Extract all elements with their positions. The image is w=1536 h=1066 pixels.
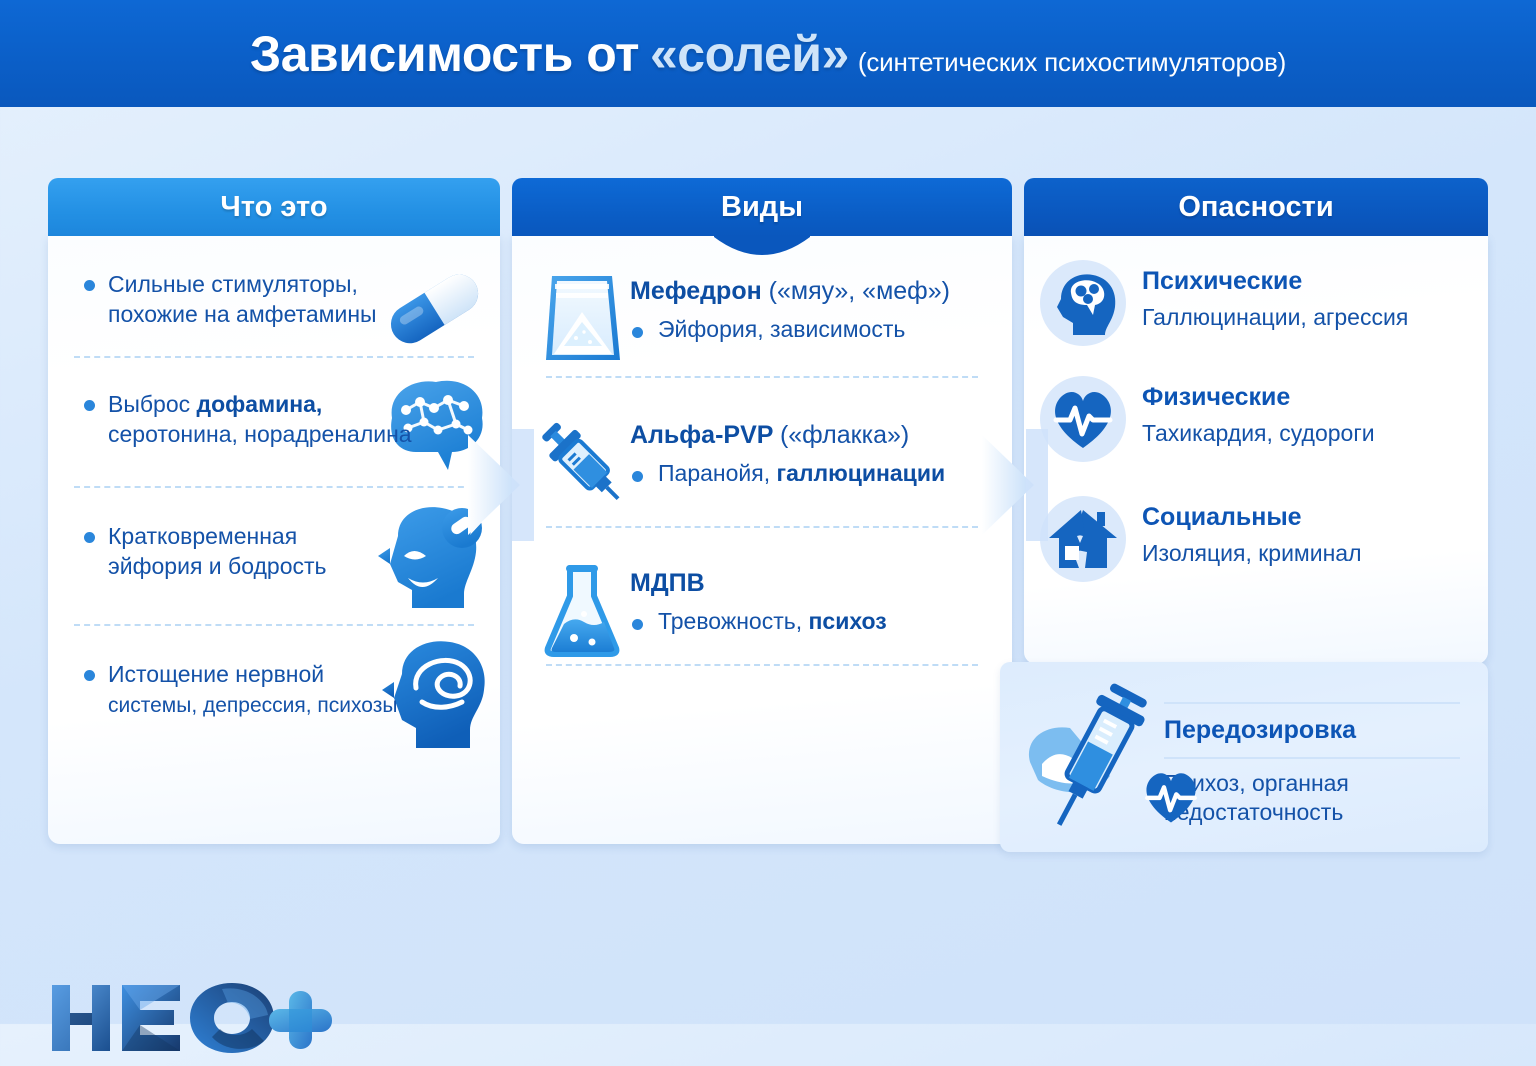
overdose-panel[interactable]: Передозировка Психоз, органная недостато… <box>1000 662 1488 852</box>
bullet-icon <box>84 280 95 291</box>
list-item-lead: Выброс <box>108 391 197 417</box>
list-item[interactable]: Мефедрон («мяу», «меф») Эйфория, зависим… <box>512 236 1012 376</box>
list-item-lead: Сильные стимуляторы, <box>108 271 358 297</box>
flask-icon <box>534 562 630 660</box>
syringe-icon <box>534 414 630 514</box>
powder-bag-icon <box>534 270 630 366</box>
list-item-rest: серотонина, норадреналина <box>108 421 412 447</box>
page-title: Зависимость от <box>250 25 639 83</box>
list-item[interactable]: Выброс дофамина, серотонина, норадренали… <box>48 358 500 486</box>
bullet-icon <box>84 532 95 543</box>
column-what-header: Что это <box>48 178 500 236</box>
list-item-rest: системы, депрессия, психозы <box>108 694 397 717</box>
kind-effect: Эйфория, зависимость <box>658 316 905 342</box>
neo-plus-logo[interactable] <box>48 979 338 1061</box>
separator <box>1164 757 1460 759</box>
page-banner: Зависимость от «солей» (синтетических пс… <box>0 0 1536 107</box>
kind-effect-bold: галлюцинации <box>776 460 945 486</box>
list-item[interactable]: Истощение нервной системы, депрессия, пс… <box>48 626 500 776</box>
kind-effect-bold: психоз <box>809 608 887 634</box>
danger-sub: Тахикардия, судороги <box>1142 419 1375 448</box>
bullet-icon <box>632 471 643 482</box>
kind-title: Альфа-PVP <box>630 421 773 449</box>
bullet-icon <box>632 327 643 338</box>
list-item[interactable]: Сильные стимуляторы, похожие на амфетами… <box>48 236 500 356</box>
list-item[interactable]: Альфа-PVP («флакка») Паранойя, галлюцина… <box>512 378 1012 526</box>
list-item-lead: Кратковременная <box>108 523 297 549</box>
danger-title: Физические <box>1142 382 1375 412</box>
kind-alias: («мяу», «меф») <box>769 277 950 305</box>
heart-pulse-small-icon <box>1140 768 1202 826</box>
list-item-rest: похожие на амфетамины <box>108 301 377 327</box>
list-item-lead: Истощение нервной <box>108 661 324 687</box>
bullet-icon <box>84 400 95 411</box>
kind-title: МДПВ <box>630 569 705 597</box>
head-thought-brain-icon <box>1040 260 1126 346</box>
flow-arrow-2-icon <box>982 429 1048 541</box>
list-item[interactable]: МДПВ Тревожность, психоз <box>512 528 1012 664</box>
column-what-is-it: Что это Сильные стимуляторы, похожие на … <box>48 178 500 844</box>
bullet-icon <box>632 619 643 630</box>
overdose-title: Передозировка <box>1164 716 1460 745</box>
bullet-icon <box>84 670 95 681</box>
separator <box>546 664 978 666</box>
danger-sub: Изоляция, криминал <box>1142 539 1362 568</box>
list-item[interactable]: Психические Галлюцинации, агрессия <box>1024 236 1488 364</box>
kind-alias: («флакка») <box>780 421 909 449</box>
separator <box>1164 702 1460 704</box>
danger-sub: Галлюцинации, агрессия <box>1142 303 1408 332</box>
column-dangers-header: Опасности <box>1024 178 1488 236</box>
kind-effect: Паранойя, <box>658 460 776 486</box>
list-item-bold: дофамина, <box>197 391 323 417</box>
page-title-quoted: «солей» <box>650 25 849 83</box>
infographic-board: Что это Сильные стимуляторы, похожие на … <box>0 107 1536 1024</box>
column-kinds-body: Мефедрон («мяу», «меф») Эйфория, зависим… <box>512 236 1012 844</box>
column-dangers: Опасности Психические Галлюцинации, агре… <box>1024 178 1488 664</box>
list-item[interactable]: Кратковременная эйфория и бодрость <box>48 488 500 624</box>
list-item[interactable]: Физические Тахикардия, судороги <box>1024 364 1488 490</box>
column-kinds: Виды <box>512 178 1012 844</box>
column-what-body: Сильные стимуляторы, похожие на амфетами… <box>48 236 500 844</box>
kind-effect: Тревожность, <box>658 608 809 634</box>
heart-pulse-icon <box>1040 376 1126 462</box>
danger-title: Социальные <box>1142 502 1362 532</box>
column-dangers-body: Психические Галлюцинации, агрессия Физич… <box>1024 236 1488 664</box>
danger-title: Психические <box>1142 266 1408 296</box>
flow-arrow-1-icon <box>468 429 534 541</box>
list-item[interactable]: Социальные Изоляция, криминал <box>1024 490 1488 610</box>
header-notch-icon <box>714 235 810 255</box>
list-item-rest: эйфория и бодрость <box>108 553 327 579</box>
kind-title: Мефедрон <box>630 277 762 305</box>
column-kinds-header: Виды <box>512 178 1012 236</box>
broken-house-icon <box>1040 496 1126 582</box>
page-subtitle: (синтетических психостимуляторов) <box>858 47 1286 78</box>
